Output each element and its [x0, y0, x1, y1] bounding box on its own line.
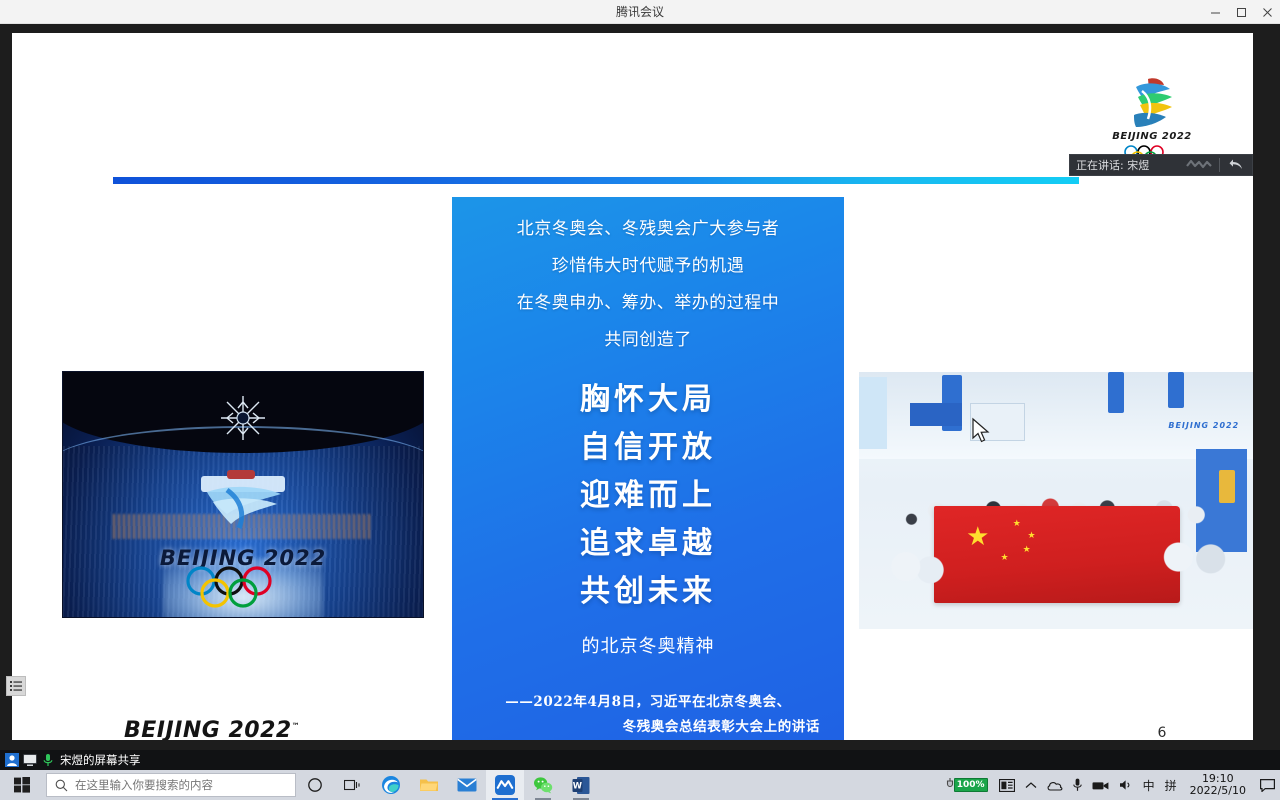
- panel-lead-lines: 北京冬奥会、冬残奥会广大参与者 珍惜伟大时代赋予的机遇 在冬奥申办、筹办、举办的…: [452, 197, 844, 359]
- photo-venue-board: BEIJING 2022: [1097, 421, 1240, 449]
- photo-kneeling-left: [871, 542, 958, 624]
- tray-chevron-up-icon[interactable]: [1020, 770, 1042, 800]
- photo-chinese-flag: ★ ★ ★ ★ ★: [934, 506, 1180, 604]
- tray-onedrive-icon[interactable]: [1042, 770, 1068, 800]
- panel-tail-line: 的北京冬奥精神: [452, 632, 844, 658]
- restore-arrow-icon[interactable]: [1220, 155, 1252, 175]
- panel-lead-line-2: 珍惜伟大时代赋予的机遇: [452, 248, 844, 285]
- panel-attribution-line-2: 冬残奥会总结表彰大会上的讲话: [474, 715, 822, 740]
- panel-slogan-3: 迎难而上: [452, 472, 844, 520]
- svg-text:W: W: [573, 780, 582, 790]
- photo-kneeling-right: [1148, 531, 1243, 624]
- photo-opening-ceremony: BEIJING 2022: [62, 371, 424, 618]
- snowflake-icon: [217, 392, 269, 444]
- minimize-icon[interactable]: [1202, 0, 1228, 24]
- tencent-meeting-icon[interactable]: [486, 770, 524, 800]
- slide-wordmark: BEIJING 2022™: [124, 718, 300, 740]
- panel-slogan-4: 追求卓越: [452, 520, 844, 568]
- file-explorer-icon[interactable]: [410, 770, 448, 800]
- app-root: 腾讯会议: [0, 0, 1280, 800]
- windows-taskbar: W 100%: [0, 770, 1280, 800]
- panel-slogan-2: 自信开放: [452, 424, 844, 472]
- panel-attribution-line-1: ——2022年4月8日，习近平在北京冬奥会、: [474, 690, 822, 715]
- cortana-icon[interactable]: [296, 770, 334, 800]
- emblem-wordmark: BEIJING 2022: [1102, 131, 1202, 142]
- active-speaker-label: 正在讲话: 宋煜: [1070, 157, 1179, 173]
- panel-lead-line-4: 共同创造了: [452, 322, 844, 359]
- window-title: 腾讯会议: [0, 0, 1280, 24]
- search-icon: [55, 779, 68, 792]
- slide-quote-panel: 北京冬奥会、冬残奥会广大参与者 珍惜伟大时代赋予的机遇 在冬奥申办、筹办、举办的…: [452, 197, 844, 740]
- photo-olympic-rings-icon: [177, 566, 309, 608]
- tray-volume-icon[interactable]: [1114, 770, 1138, 800]
- maximize-icon[interactable]: [1228, 0, 1254, 24]
- panel-slogan-1: 胸怀大局: [452, 376, 844, 424]
- clock-date: 2022/5/10: [1190, 785, 1246, 797]
- tray-webcam-icon[interactable]: [1087, 770, 1114, 800]
- wechat-icon[interactable]: [524, 770, 562, 800]
- slide-accent-bar: [113, 177, 1079, 184]
- flag-small-star-3-icon: ★: [1023, 545, 1031, 554]
- flag-small-star-2-icon: ★: [1028, 531, 1036, 540]
- audio-wave-icon: [1179, 155, 1219, 175]
- shared-screen-frame: BEIJING 2022: [12, 33, 1253, 740]
- active-speaker-bar[interactable]: 正在讲话: 宋煜: [1069, 154, 1253, 176]
- slide-wordmark-text: BEIJING 2022: [124, 718, 292, 740]
- tray-microphone-icon[interactable]: [1068, 770, 1087, 800]
- panel-attribution: ——2022年4月8日，习近平在北京冬奥会、 冬残奥会总结表彰大会上的讲话: [452, 690, 844, 740]
- flag-big-star-icon: ★: [966, 523, 992, 549]
- flag-small-star-4-icon: ★: [1001, 553, 1009, 562]
- monitor-icon: [22, 752, 38, 768]
- photo-post-2: [1108, 372, 1124, 413]
- battery-level-label: 100%: [954, 778, 988, 792]
- panel-lead-line-3: 在冬奥申办、筹办、举办的过程中: [452, 285, 844, 322]
- window-titlebar: 腾讯会议: [0, 0, 1280, 24]
- panel-lead-line-1: 北京冬奥会、冬残奥会广大参与者: [452, 211, 844, 248]
- list-menu-icon: [10, 681, 22, 691]
- photo-sign: [910, 403, 961, 426]
- slide-panel-toggle-button[interactable]: [6, 676, 26, 696]
- meeting-stage: BEIJING 2022: [0, 24, 1280, 750]
- tray-news-icon[interactable]: [994, 770, 1020, 800]
- panel-slogan-5: 共创未来: [452, 568, 844, 616]
- share-status-text: 宋煜的屏幕共享: [60, 752, 141, 768]
- ime-pinyin-indicator[interactable]: 拼: [1160, 770, 1182, 800]
- close-icon[interactable]: [1254, 0, 1280, 24]
- microphone-icon: [40, 752, 56, 768]
- search-input-field[interactable]: [75, 778, 287, 792]
- photo-equipment-box: [970, 403, 1025, 442]
- system-tray: 100% 中 拼 19:10 202: [945, 770, 1280, 800]
- photo-barrier-left: [859, 377, 887, 449]
- search-input[interactable]: [46, 773, 296, 797]
- slide-wordmark-tm: ™: [292, 722, 301, 731]
- action-center-icon[interactable]: [1254, 770, 1280, 800]
- window-controls: [1202, 0, 1280, 24]
- presentation-slide: BEIJING 2022: [12, 33, 1253, 740]
- word-icon[interactable]: W: [562, 770, 600, 800]
- flag-small-star-1-icon: ★: [1013, 519, 1021, 528]
- panel-slogans: 胸怀大局 自信开放 迎难而上 追求卓越 共创未来: [452, 376, 844, 616]
- mail-icon[interactable]: [448, 770, 486, 800]
- photo-ice-emblem-icon: [183, 470, 303, 544]
- battery-charging-icon[interactable]: 100%: [945, 778, 988, 792]
- ime-mode-indicator[interactable]: 中: [1138, 770, 1160, 800]
- windows-start-icon[interactable]: [0, 770, 44, 800]
- taskbar-clock[interactable]: 19:10 2022/5/10: [1182, 773, 1254, 797]
- edge-icon[interactable]: [372, 770, 410, 800]
- photo-athletes-flag: BEIJING 2022 ★ ★ ★ ★ ★: [859, 372, 1253, 629]
- task-view-icon[interactable]: [334, 770, 372, 800]
- person-icon: [4, 752, 20, 768]
- screen-share-status-strip: 宋煜的屏幕共享: [0, 750, 1280, 770]
- emblem-mark-icon: [1118, 75, 1186, 131]
- photo-post-3: [1168, 372, 1184, 408]
- slide-page-number: 6: [1142, 725, 1182, 740]
